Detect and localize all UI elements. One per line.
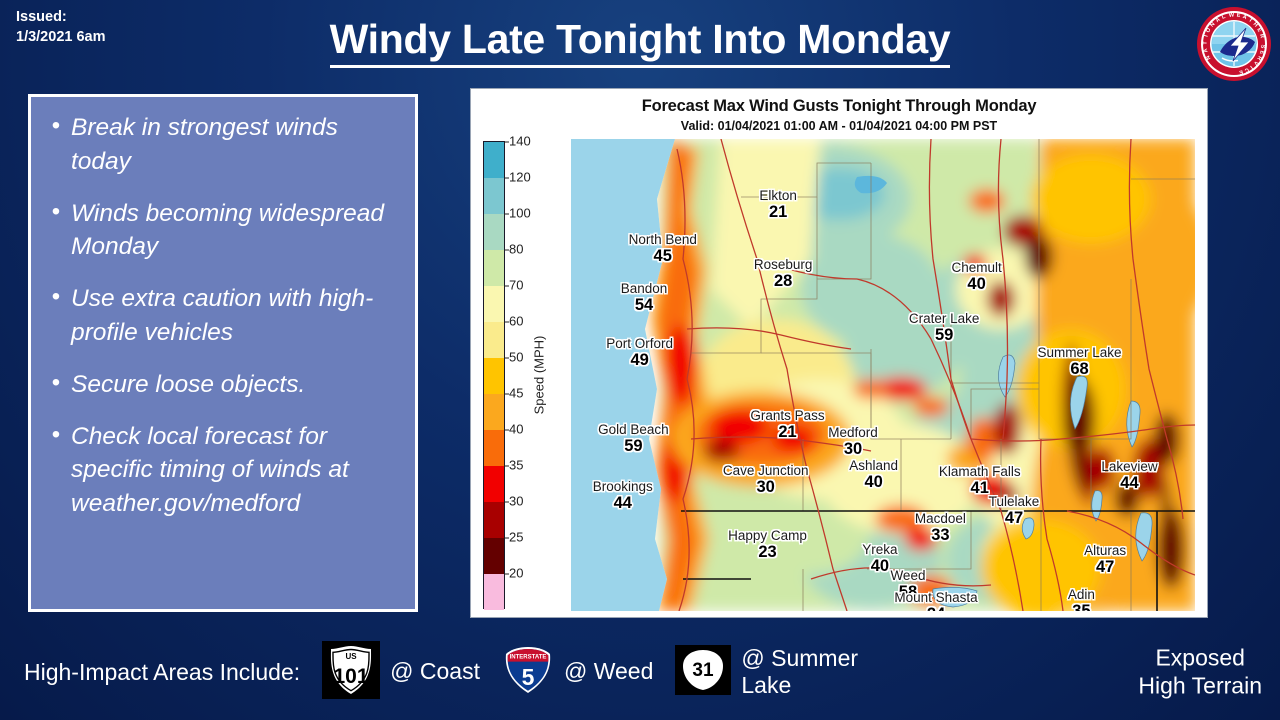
us-101-shield-number: 101 (334, 665, 369, 688)
colorbar-axis-label: Speed (MPH) (532, 336, 547, 415)
colorbar-tick-label: 30 (509, 494, 523, 509)
colorbar-tick-label: 25 (509, 530, 523, 545)
interstate-5-shield-number: 5 (522, 664, 535, 690)
colorbar-segment (484, 250, 504, 286)
list-item-label: Winds becoming widespread Monday (71, 197, 403, 265)
colorbar-segment (484, 502, 504, 538)
high-impact-label-i5: @ Weed (564, 658, 653, 685)
list-item-label: Secure loose objects. (71, 368, 403, 402)
list-item: • Break in strongest winds today (41, 111, 403, 179)
colorbar-segment (484, 538, 504, 574)
or-31-shield-icon: 31 (675, 645, 731, 700)
exposed-line-1: Exposed (1138, 644, 1262, 672)
or-31-shield-number: 31 (693, 660, 715, 681)
colorbar-tick-label: 35 (509, 458, 523, 473)
colorbar-tick-label: 80 (509, 242, 523, 257)
bullet-icon: • (41, 368, 71, 402)
us-101-shield-icon: US 101 (322, 641, 380, 704)
key-messages-panel: • Break in strongest winds today • Winds… (28, 94, 418, 612)
colorbar-tick-label: 70 (509, 278, 523, 293)
colorbar-segment (484, 142, 504, 178)
forecast-map-panel: Forecast Max Wind Gusts Tonight Through … (470, 88, 1208, 618)
colorbar-tick-label: 60 (509, 314, 523, 329)
list-item: • Secure loose objects. (41, 368, 403, 402)
high-impact-item-us101: US 101 @ Coast (322, 641, 480, 704)
colorbar-segment (484, 358, 504, 394)
national-weather-service-logo: N A T I O N A L W E A T H E R S E R V I … (1196, 6, 1272, 82)
high-impact-label-us101: @ Coast (390, 658, 480, 685)
colorbar-tick-label: 45 (509, 386, 523, 401)
high-impact-exposed-terrain: Exposed High Terrain (1138, 644, 1262, 699)
colorbar-segment (484, 466, 504, 502)
page-title: Windy Late Tonight Into Monday (0, 16, 1280, 68)
list-item: • Check local forecast for specific timi… (41, 420, 403, 521)
us-101-shield-top: US (346, 652, 358, 661)
bullet-icon: • (41, 197, 71, 265)
heatmap-svg (571, 139, 1195, 611)
page-title-text: Windy Late Tonight Into Monday (330, 16, 951, 68)
high-impact-item-i5: INTERSTATE 5 @ Weed (502, 644, 653, 701)
bullet-icon: • (41, 111, 71, 179)
wind-gust-heatmap: Elkton21North Bend45Roseburg28Bandon54Ch… (571, 139, 1195, 611)
bullet-icon: • (41, 282, 71, 350)
interstate-5-shield-icon: INTERSTATE 5 (502, 644, 554, 701)
colorbar-tick-label: 100 (509, 206, 531, 221)
list-item-label: Check local forecast for specific timing… (71, 420, 403, 521)
map-valid-time: Valid: 01/04/2021 01:00 AM - 01/04/2021 … (471, 119, 1207, 133)
high-impact-item-or31: 31 @ Summer Lake (675, 645, 891, 700)
map-title: Forecast Max Wind Gusts Tonight Through … (471, 97, 1207, 116)
colorbar-segment (484, 574, 504, 610)
interstate-5-shield-top: INTERSTATE (510, 654, 547, 660)
list-item-label: Use extra caution with high-profile vehi… (71, 282, 403, 350)
colorbar-segment (484, 322, 504, 358)
list-item: • Winds becoming widespread Monday (41, 197, 403, 265)
colorbar-tick-label: 40 (509, 422, 523, 437)
colorbar-segment (484, 214, 504, 250)
high-impact-banner: High-Impact Areas Include: US 101 @ Coas… (0, 624, 1280, 720)
colorbar-tick-label: 50 (509, 350, 523, 365)
colorbar-tick-label: 120 (509, 170, 531, 185)
colorbar-gradient (483, 141, 505, 609)
colorbar-segment (484, 394, 504, 430)
colorbar-segment (484, 178, 504, 214)
colorbar-tick-label: 140 (509, 134, 531, 149)
high-impact-label-or31: @ Summer Lake (741, 645, 891, 699)
banner-lead-label: High-Impact Areas Include: (24, 659, 300, 686)
exposed-line-2: High Terrain (1138, 672, 1262, 700)
colorbar: 14012010080706050454035302520 Speed (MPH… (483, 141, 569, 609)
list-item-label: Break in strongest winds today (71, 111, 403, 179)
list-item: • Use extra caution with high-profile ve… (41, 282, 403, 350)
colorbar-segment (484, 286, 504, 322)
colorbar-tick-label: 20 (509, 566, 523, 581)
bullet-icon: • (41, 420, 71, 521)
colorbar-segment (484, 430, 504, 466)
